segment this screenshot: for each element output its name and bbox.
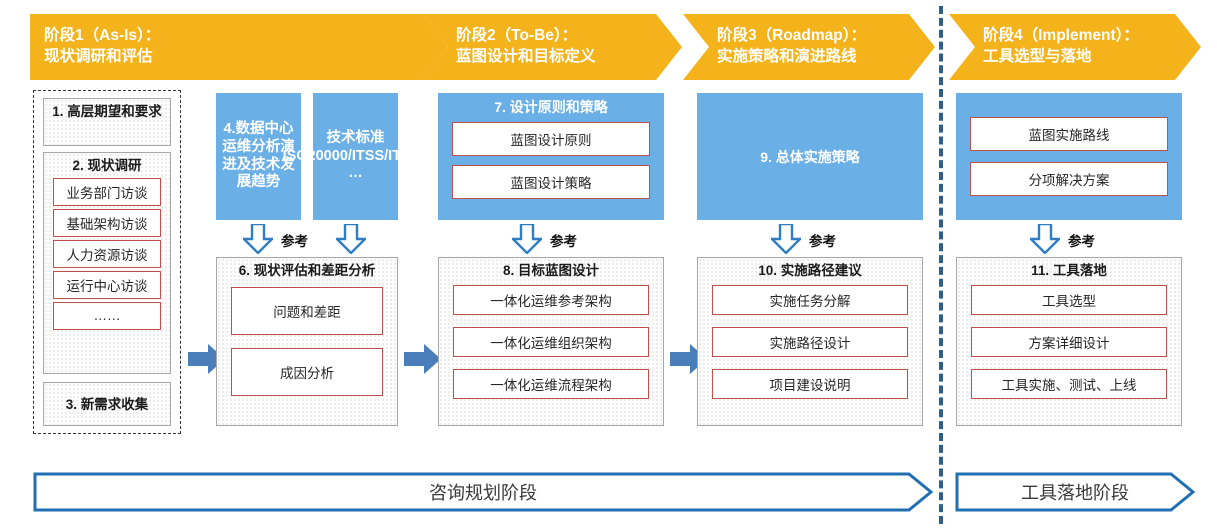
phase2-bottom-item[interactable]: 一体化运维流程架构 xyxy=(453,369,649,399)
phase1-box-2-title: 2. 现状调研 xyxy=(44,153,170,178)
right-arrow-icon xyxy=(404,342,442,381)
phase-banner-4-line1: 阶段4（Implement）： xyxy=(983,26,1201,47)
phase4-blue-item[interactable]: 分项解决方案 xyxy=(970,162,1168,196)
reference-label: 参考 xyxy=(1068,230,1095,250)
phase1b-bottom-title: 6. 现状评估和差距分析 xyxy=(217,258,397,283)
phase-banner-2[interactable]: 阶段2（To-Be）： 蓝图设计和目标定义 xyxy=(422,14,682,80)
phase3-bottom-panel[interactable]: 10. 实施路径建议 实施任务分解 实施路径设计 项目建设说明 xyxy=(697,257,923,426)
phase-banner-4[interactable]: 阶段4（Implement）： 工具选型与落地 xyxy=(949,14,1201,80)
bottom-banner-toolimpl-label: 工具落地阶段 xyxy=(955,472,1195,512)
phase-banner-1-line1: 阶段1（As-Is）： xyxy=(44,26,448,47)
down-arrow-icon xyxy=(512,224,542,259)
phase-banner-1[interactable]: 阶段1（As-Is）： 现状调研和评估 xyxy=(30,14,448,80)
down-arrow-icon xyxy=(1030,224,1060,259)
phase-banner-3[interactable]: 阶段3（Roadmap）： 实施策略和演进路线 xyxy=(683,14,935,80)
phase-banner-1-line2: 现状调研和评估 xyxy=(44,47,448,68)
phase1b-bottom-panel[interactable]: 6. 现状评估和差距分析 问题和差距 成因分析 xyxy=(216,257,398,426)
phase-banner-3-line2: 实施策略和演进路线 xyxy=(717,47,935,68)
phase-banner-2-line1: 阶段2（To-Be）： xyxy=(456,26,682,47)
phase1b-bottom-item[interactable]: 问题和差距 xyxy=(231,287,383,335)
phase2-bottom-title: 8. 目标蓝图设计 xyxy=(439,258,663,283)
phase1b-bottom-item[interactable]: 成因分析 xyxy=(231,348,383,396)
phase3-blue-panel[interactable]: 9. 总体实施策略 xyxy=(697,93,923,220)
diagram-canvas: 阶段1（As-Is）： 现状调研和评估 阶段2（To-Be）： 蓝图设计和目标定… xyxy=(0,0,1217,530)
phase2-bottom-panel[interactable]: 8. 目标蓝图设计 一体化运维参考架构 一体化运维组织架构 一体化运维流程架构 xyxy=(438,257,664,426)
phase2-bottom-item[interactable]: 一体化运维组织架构 xyxy=(453,327,649,357)
phase3-bottom-title: 10. 实施路径建议 xyxy=(698,258,922,283)
bottom-banner-consulting[interactable]: 咨询规划阶段 xyxy=(33,472,933,512)
reference-label: 参考 xyxy=(550,230,577,250)
phase1b-blue-right-title: 技术标准ISO20000/ITSS/ITIL… … xyxy=(280,122,432,191)
phase1-box-2-item[interactable]: …… xyxy=(53,302,161,330)
phase4-bottom-item[interactable]: 工具实施、测试、上线 xyxy=(971,369,1167,399)
phase3-bottom-item[interactable]: 实施任务分解 xyxy=(712,285,908,315)
phase1-box-2-item[interactable]: 运行中心访谈 xyxy=(53,271,161,299)
phase2-blue-item[interactable]: 蓝图设计原则 xyxy=(452,122,650,156)
phase2-blue-title: 7. 设计原则和策略 xyxy=(438,93,664,120)
phase3-bottom-item[interactable]: 实施路径设计 xyxy=(712,327,908,357)
phase4-bottom-title: 11. 工具落地 xyxy=(957,258,1181,283)
phase1-box-1-title: 1. 高层期望和要求 xyxy=(44,99,170,124)
bottom-banner-toolimpl[interactable]: 工具落地阶段 xyxy=(955,472,1195,512)
phase4-bottom-panel[interactable]: 11. 工具落地 工具选型 方案详细设计 工具实施、测试、上线 xyxy=(956,257,1182,426)
phase1-box-2-item[interactable]: 业务部门访谈 xyxy=(53,178,161,206)
down-arrow-icon xyxy=(243,224,273,259)
reference-label: 参考 xyxy=(281,230,308,250)
phase2-blue-panel[interactable]: 7. 设计原则和策略 蓝图设计原则 蓝图设计策略 xyxy=(438,93,664,220)
phase4-blue-panel[interactable]: 蓝图实施路线 分项解决方案 xyxy=(956,93,1182,220)
phase4-blue-item[interactable]: 蓝图实施路线 xyxy=(970,117,1168,151)
phase-divider xyxy=(939,6,943,524)
phase4-bottom-item[interactable]: 工具选型 xyxy=(971,285,1167,315)
down-arrow-icon xyxy=(336,224,366,259)
phase3-blue-title: 9. 总体实施策略 xyxy=(757,143,863,170)
phase-banner-2-line2: 蓝图设计和目标定义 xyxy=(456,47,682,68)
phase1-box-2-item[interactable]: 基础架构访谈 xyxy=(53,209,161,237)
phase4-bottom-item[interactable]: 方案详细设计 xyxy=(971,327,1167,357)
phase2-bottom-item[interactable]: 一体化运维参考架构 xyxy=(453,285,649,315)
phase-banner-3-line1: 阶段3（Roadmap）： xyxy=(717,26,935,47)
phase1-box-2-item[interactable]: 人力资源访谈 xyxy=(53,240,161,268)
phase1-box-3-title: 3. 新需求收集 xyxy=(44,392,170,417)
phase3-bottom-item[interactable]: 项目建设说明 xyxy=(712,369,908,399)
phase1-box-2[interactable]: 2. 现状调研 业务部门访谈 基础架构访谈 人力资源访谈 运行中心访谈 …… xyxy=(43,152,171,374)
phase2-blue-item[interactable]: 蓝图设计策略 xyxy=(452,165,650,199)
down-arrow-icon xyxy=(771,224,801,259)
phase-banner-4-line2: 工具选型与落地 xyxy=(983,47,1201,68)
phase1b-blue-right[interactable]: 技术标准ISO20000/ITSS/ITIL… … xyxy=(313,93,398,220)
reference-label: 参考 xyxy=(809,230,836,250)
phase1-box-3[interactable]: 3. 新需求收集 xyxy=(43,382,171,426)
phase1-box-1[interactable]: 1. 高层期望和要求 xyxy=(43,98,171,146)
bottom-banner-consulting-label: 咨询规划阶段 xyxy=(33,472,933,512)
